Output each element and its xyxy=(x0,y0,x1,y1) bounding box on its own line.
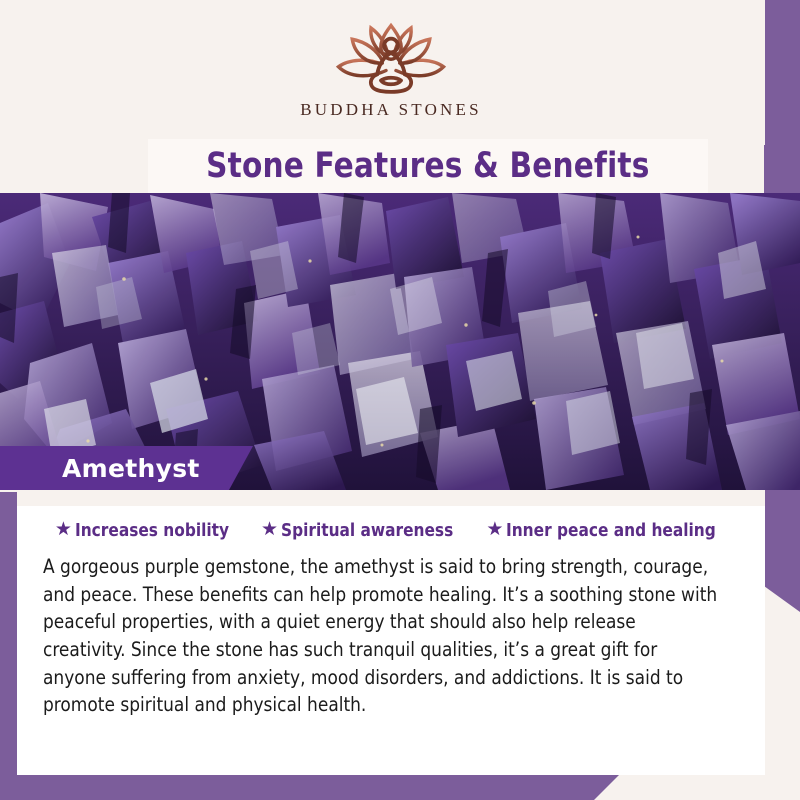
stone-hero-image: Amethyst xyxy=(0,193,800,490)
brand-name: BUDDHA STONES xyxy=(300,100,482,120)
frame-accent-left xyxy=(0,492,17,800)
brand-header: BUDDHA STONES xyxy=(17,0,765,145)
star-icon: ★ xyxy=(486,520,503,539)
stone-name-banner: Amethyst xyxy=(0,446,253,490)
benefits-list: ★ Increases nobility ★ Spiritual awarene… xyxy=(43,518,739,547)
product-info-card: BUDDHA STONES Stone Features & Benefits xyxy=(0,0,800,800)
section-title-band: Stone Features & Benefits xyxy=(148,139,708,193)
benefit-label: Spiritual awareness xyxy=(281,520,453,541)
stone-description-text: A gorgeous purple gemstone, the amethyst… xyxy=(43,553,718,719)
star-icon: ★ xyxy=(55,520,72,539)
page-title: Stone Features & Benefits xyxy=(206,146,649,186)
hero-content-divider xyxy=(17,490,765,506)
stone-description-panel: ★ Increases nobility ★ Spiritual awarene… xyxy=(17,506,765,775)
stone-name-label: Amethyst xyxy=(62,454,200,483)
benefit-item-inner-peace: ★ Inner peace and healing xyxy=(486,520,727,541)
benefit-item-spiritual-awareness: ★ Spiritual awareness xyxy=(261,520,462,541)
benefit-item-nobility: ★ Increases nobility xyxy=(55,520,237,541)
benefit-label: Increases nobility xyxy=(75,520,229,541)
lotus-meditation-icon xyxy=(316,18,466,98)
amethyst-crystal-cluster-photo xyxy=(0,193,800,490)
benefit-label: Inner peace and healing xyxy=(506,520,716,541)
frame-accent-bottom xyxy=(0,774,620,800)
star-icon: ★ xyxy=(261,520,278,539)
